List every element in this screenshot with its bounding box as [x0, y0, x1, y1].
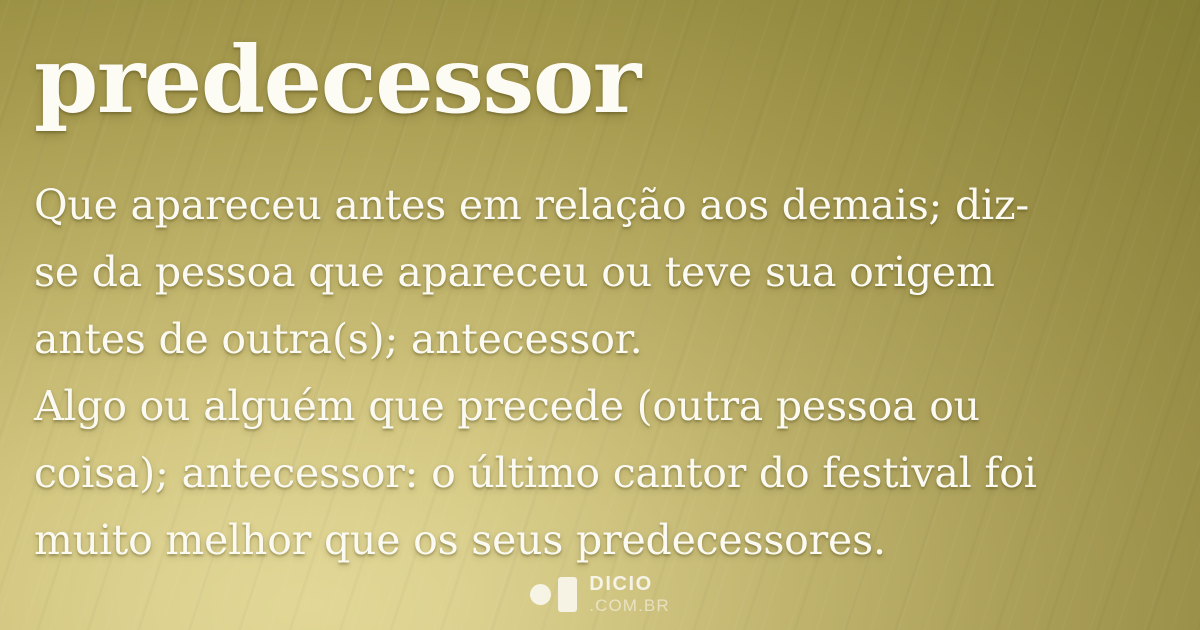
card-content: predecessor Que apareceu antes em relaçã… [0, 0, 1200, 630]
logo-wordmark: DICIO .COM.BR [589, 574, 669, 614]
site-logo: DICIO .COM.BR [0, 574, 1200, 614]
headword-title: predecessor [34, 34, 640, 126]
definition-entry-1: Que apareceu antes em relação aos demais… [34, 172, 1180, 373]
logo-name-text: DICIO [589, 574, 669, 594]
definition-entry-2: Algo ou alguém que precede (outra pessoa… [34, 373, 1180, 574]
logo-bar-icon [558, 577, 577, 612]
dictionary-share-card: predecessor Que apareceu antes em relaçã… [0, 0, 1200, 630]
logo-mark-icon [530, 577, 577, 612]
logo-tld-text: .COM.BR [589, 597, 669, 614]
logo-circle-icon [530, 584, 551, 605]
definition-list: Que apareceu antes em relação aos demais… [34, 172, 1180, 574]
